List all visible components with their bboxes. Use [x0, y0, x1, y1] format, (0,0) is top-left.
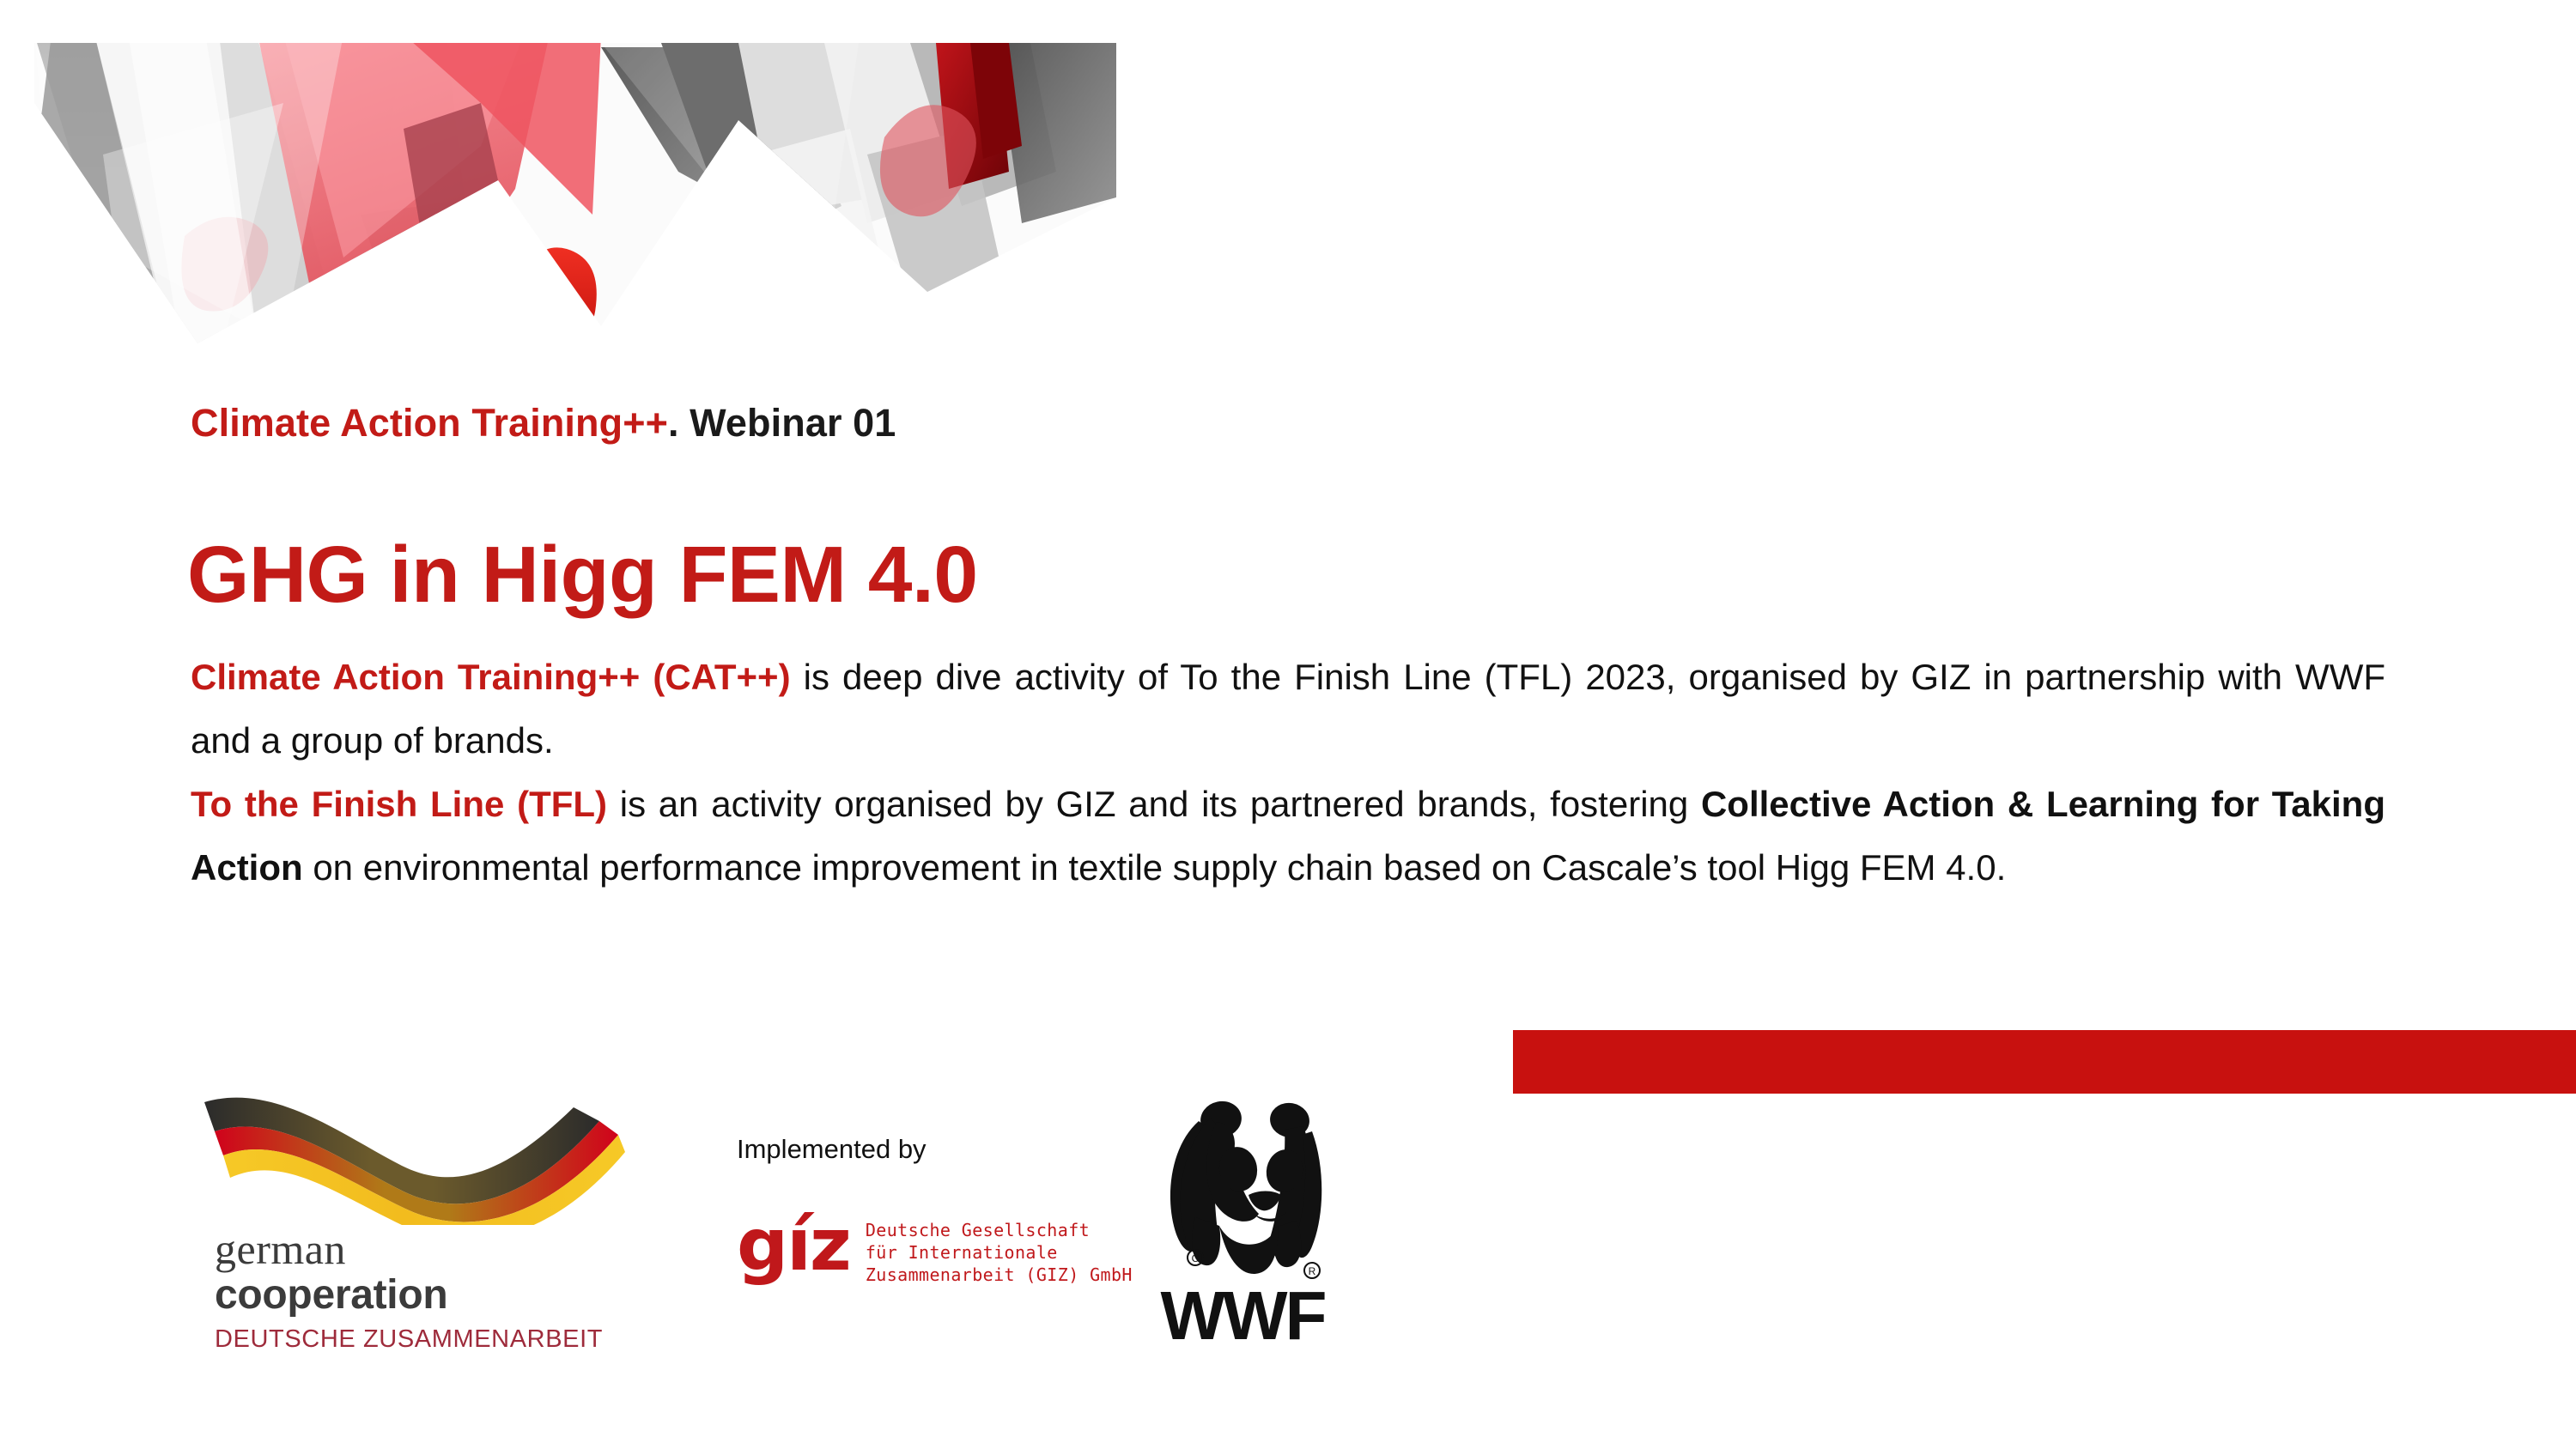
accent-bar	[1513, 1030, 2576, 1094]
page-title: GHG in Higg FEM 4.0	[187, 530, 978, 618]
intro-body-copy: Climate Action Training++ (CAT++) is dee…	[191, 646, 2385, 900]
gc-line-deutsche-zusammenarbeit: DEUTSCHE ZUSAMMENARBEIT	[215, 1322, 610, 1356]
slide-canvas: Climate Action Training++. Webinar 01 GH…	[0, 0, 2576, 1449]
german-cooperation-wordmark: german cooperation DEUTSCHE ZUSAMMENARBE…	[215, 1226, 610, 1356]
wwf-wordmark-text: WWF	[1161, 1277, 1325, 1346]
paragraph-cat: Climate Action Training++ (CAT++) is dee…	[191, 646, 2385, 773]
giz-logo-block: Implemented by gíz Deutsche Gesellschaft…	[737, 1135, 1097, 1332]
svg-text:C: C	[1192, 1252, 1200, 1264]
giz-name-line-3: Zusammenarbeit (GIZ) GmbH	[866, 1264, 1133, 1286]
giz-name-line-2: für Internationale	[866, 1241, 1133, 1264]
webinar-eyebrow: Climate Action Training++. Webinar 01	[191, 402, 896, 445]
eyebrow-separator: .	[668, 401, 679, 445]
giz-wordmark: gíz	[737, 1214, 850, 1276]
giz-full-name: Deutsche Gesellschaft für Internationale…	[866, 1219, 1133, 1286]
tfl-description-before: is an activity organised by GIZ and its …	[607, 784, 1701, 824]
giz-logo: gíz Deutsche Gesellschaft für Internatio…	[737, 1214, 1097, 1286]
giz-name-line-1: Deutsche Gesellschaft	[866, 1219, 1133, 1241]
cat-lead-in: Climate Action Training++ (CAT++)	[191, 657, 791, 697]
tfl-description-after: on environmental performance improvement…	[303, 847, 2007, 888]
abstract-polygon-banner	[0, 0, 1125, 343]
paragraph-tfl: To the Finish Line (TFL) is an activity …	[191, 773, 2385, 900]
wwf-registered-mark: R	[1304, 1263, 1320, 1278]
german-flag-ribbon-icon	[196, 1092, 625, 1225]
svg-text:R: R	[1309, 1265, 1316, 1277]
tfl-lead-in: To the Finish Line (TFL)	[191, 784, 607, 824]
gc-line-german: german	[215, 1226, 610, 1272]
eyebrow-program-name: Climate Action Training++	[191, 401, 668, 445]
implemented-by-label: Implemented by	[737, 1135, 1097, 1164]
gc-line-cooperation: cooperation	[215, 1272, 610, 1319]
wwf-logo: C R WWF	[1144, 1097, 1341, 1346]
german-cooperation-logo: german cooperation DEUTSCHE ZUSAMMENARBE…	[196, 1092, 625, 1349]
eyebrow-webinar-number: Webinar 01	[690, 401, 896, 445]
wwf-panda-icon: C R WWF	[1144, 1097, 1341, 1346]
